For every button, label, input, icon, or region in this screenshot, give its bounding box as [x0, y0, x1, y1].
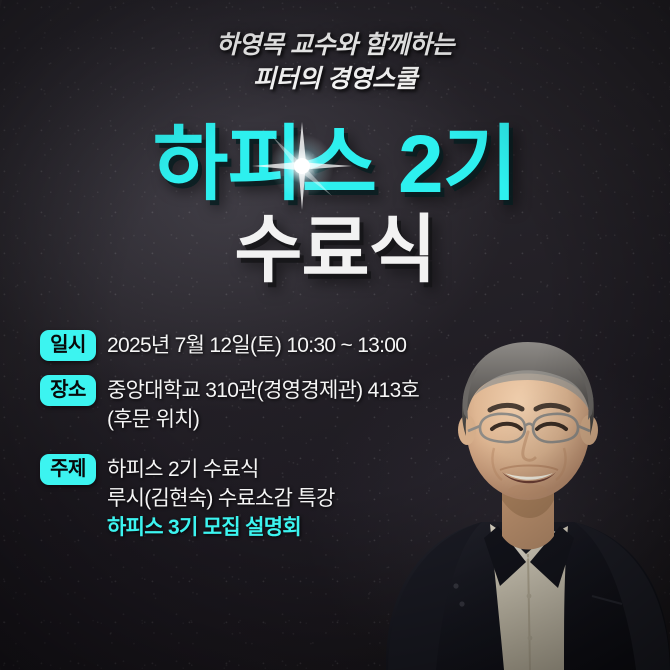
info-row-location: 장소 중앙대학교 310관(경영경제관) 413호 (후문 위치): [40, 375, 460, 434]
datetime-line-1: 2025년 7월 12일(토) 10:30 ~ 13:00: [107, 331, 460, 360]
badge-topic: 주제: [40, 454, 96, 485]
location-line-1: 중앙대학교 310관(경영경제관) 413호: [107, 376, 460, 405]
topic-line-2: 루시(김현숙) 수료소감 특강: [107, 484, 460, 513]
kicker-text: 하영목 교수와 함께하는 피터의 경영스쿨: [0, 28, 670, 96]
kicker-line-1: 하영목 교수와 함께하는: [0, 28, 670, 62]
info-row-topic-text: 하피스 2기 수료식 루시(김현숙) 수료소감 특강 하피스 3기 모집 설명회: [107, 454, 460, 542]
topic-line-3: 하피스 3기 모집 설명회: [107, 513, 460, 542]
badge-location: 장소: [40, 375, 96, 406]
info-row-datetime-text: 2025년 7월 12일(토) 10:30 ~ 13:00: [107, 330, 460, 360]
title-line-2: 수료식: [0, 209, 670, 291]
title-line-1: 하피스 2기: [0, 123, 670, 207]
kicker-line-2: 피터의 경영스쿨: [0, 62, 670, 96]
info-row-topic: 주제 하피스 2기 수료식 루시(김현숙) 수료소감 특강 하피스 3기 모집 …: [40, 454, 460, 542]
event-info-list: 일시 2025년 7월 12일(토) 10:30 ~ 13:00 장소 중앙대학…: [40, 330, 460, 542]
page-title: 하피스 2기 수료식: [0, 123, 670, 291]
info-row-datetime: 일시 2025년 7월 12일(토) 10:30 ~ 13:00: [40, 330, 460, 361]
location-line-2: (후문 위치): [107, 405, 460, 434]
event-poster: 하영목 교수와 함께하는 피터의 경영스쿨 하피스 2기 수료식 일시 2025…: [0, 0, 670, 670]
topic-line-1: 하피스 2기 수료식: [107, 455, 460, 484]
badge-datetime: 일시: [40, 330, 96, 361]
info-row-location-text: 중앙대학교 310관(경영경제관) 413호 (후문 위치): [107, 375, 460, 434]
